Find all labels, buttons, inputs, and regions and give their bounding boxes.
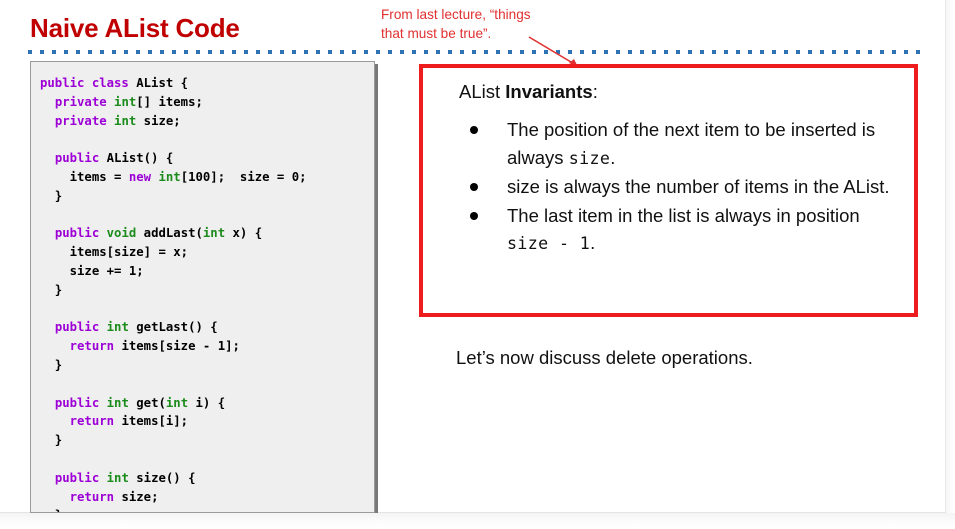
code-token: } bbox=[40, 358, 62, 372]
code-token: } bbox=[40, 283, 62, 297]
code-token bbox=[40, 151, 55, 165]
code-token: items[i]; bbox=[121, 414, 188, 428]
lecture-note: From last lecture, “things that must be … bbox=[381, 6, 596, 43]
code-token bbox=[40, 95, 55, 109]
invariant-code-span: size - 1 bbox=[507, 234, 590, 253]
code-token: return bbox=[70, 414, 122, 428]
code-token: size += 1; bbox=[40, 264, 144, 278]
slide-root: Naive AList Code public class AList { pr… bbox=[0, 0, 955, 529]
code-token: AList { bbox=[136, 76, 188, 90]
invariants-box: AList Invariants: The position of the ne… bbox=[419, 64, 918, 317]
code-token: int bbox=[158, 170, 180, 184]
code-token: AList() { bbox=[107, 151, 174, 165]
code-token: } bbox=[40, 189, 62, 203]
code-token: size; bbox=[121, 490, 158, 504]
invariants-heading-prefix: AList bbox=[459, 81, 505, 102]
invariants-heading-suffix: : bbox=[593, 81, 598, 102]
code-token: int bbox=[166, 396, 188, 410]
code-token bbox=[40, 414, 70, 428]
code-token: public class bbox=[40, 76, 136, 90]
code-token: return bbox=[70, 490, 122, 504]
bullet-dot-icon bbox=[470, 183, 478, 191]
code-token: [100]; size = 0; bbox=[181, 170, 307, 184]
code-token: public bbox=[55, 226, 107, 240]
invariants-heading-bold: Invariants bbox=[505, 81, 592, 102]
code-token: items[size - 1]; bbox=[121, 339, 239, 353]
code-token bbox=[40, 114, 55, 128]
code-token: public bbox=[55, 151, 107, 165]
code-token: private bbox=[55, 114, 114, 128]
code-token: new bbox=[129, 170, 159, 184]
invariant-text-span: . bbox=[610, 147, 615, 168]
code-token: public bbox=[55, 320, 107, 334]
code-listing: public class AList { private int[] items… bbox=[31, 62, 374, 513]
code-token: x) { bbox=[225, 226, 262, 240]
code-token: size() { bbox=[136, 471, 195, 485]
invariant-list-item: size is always the number of items in th… bbox=[459, 173, 900, 201]
code-token: } bbox=[40, 433, 62, 447]
bullet-dot-icon bbox=[470, 126, 478, 134]
code-token bbox=[40, 320, 55, 334]
lecture-note-line-1: From last lecture, “things bbox=[381, 6, 596, 25]
invariant-list-item: The last item in the list is always in p… bbox=[459, 202, 900, 258]
title-divider bbox=[28, 50, 928, 54]
code-token: [] items; bbox=[136, 95, 203, 109]
closing-line: Let’s now discuss delete operations. bbox=[456, 347, 753, 369]
invariant-text-span: The last item in the list is always in p… bbox=[507, 205, 860, 226]
code-token: i) { bbox=[188, 396, 225, 410]
code-token: private bbox=[55, 95, 114, 109]
code-token: int bbox=[114, 114, 136, 128]
code-token: size; bbox=[136, 114, 180, 128]
code-token: int bbox=[203, 226, 225, 240]
code-token: public bbox=[55, 471, 107, 485]
code-token: int bbox=[107, 320, 137, 334]
code-token bbox=[40, 490, 70, 504]
code-token: addLast( bbox=[144, 226, 203, 240]
code-token: int bbox=[107, 471, 137, 485]
invariant-list-item: The position of the next item to be inse… bbox=[459, 116, 900, 172]
code-token bbox=[40, 471, 55, 485]
invariants-heading: AList Invariants: bbox=[459, 81, 598, 103]
page-edge-right bbox=[946, 0, 955, 513]
invariant-text-span: size is always the number of items in th… bbox=[507, 176, 890, 197]
code-token: items = bbox=[40, 170, 129, 184]
code-panel: public class AList { private int[] items… bbox=[30, 61, 375, 513]
invariant-text-span: The position of the next item to be inse… bbox=[507, 119, 875, 168]
invariant-text-span: . bbox=[590, 232, 595, 253]
lecture-note-line-2: that must be true”. bbox=[381, 25, 596, 44]
code-token bbox=[40, 226, 55, 240]
code-token: return bbox=[70, 339, 122, 353]
code-token: get( bbox=[136, 396, 166, 410]
code-token: int bbox=[107, 396, 137, 410]
code-token: void bbox=[107, 226, 144, 240]
code-token bbox=[40, 339, 70, 353]
code-token bbox=[40, 396, 55, 410]
invariant-code-span: size bbox=[569, 149, 611, 168]
code-token: int bbox=[114, 95, 136, 109]
code-token: getLast() { bbox=[136, 320, 217, 334]
page-edge-bottom bbox=[0, 513, 955, 529]
page-title: Naive AList Code bbox=[30, 13, 240, 44]
invariants-list: The position of the next item to be inse… bbox=[459, 116, 900, 259]
code-token: items[size] = x; bbox=[40, 245, 188, 259]
code-token: public bbox=[55, 396, 107, 410]
bullet-dot-icon bbox=[470, 212, 478, 220]
